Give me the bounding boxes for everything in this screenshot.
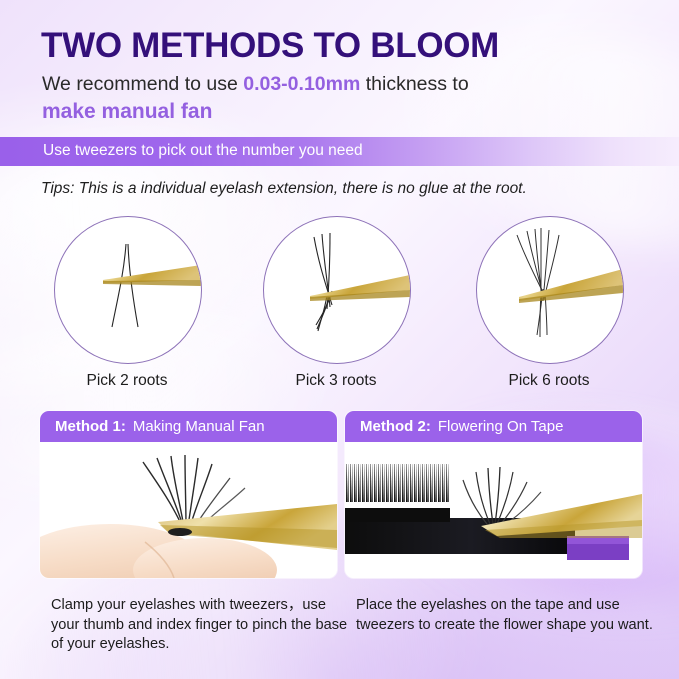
- tweezers-lash-icon: [263, 216, 411, 364]
- method-2-title: Flowering On Tape: [438, 418, 564, 435]
- method-1-label: Method 1:: [55, 418, 126, 435]
- method-1-caption: Clamp your eyelashes with tweezers，use y…: [51, 596, 351, 655]
- method-2-caption: Place the eyelashes on the tape and use …: [356, 596, 656, 635]
- fingers-pinching-lash-fan-photo: [40, 442, 337, 578]
- subtitle-line-2: make manual fan: [42, 100, 212, 124]
- pick-roots-label: Pick 2 roots: [54, 372, 200, 390]
- tweezers-lash-icon: [476, 216, 624, 364]
- instruction-banner-text: Use tweezers to pick out the number you …: [43, 142, 363, 160]
- method-card-2: Method 2: Flowering On Tape: [345, 411, 642, 578]
- subtitle-thickness-value: 0.03-0.10mm: [243, 73, 360, 95]
- method-1-title: Making Manual Fan: [133, 418, 265, 435]
- tips-text: Tips: This is a individual eyelash exten…: [41, 180, 527, 198]
- pick-roots-item-3: Pick 3 roots: [263, 216, 409, 390]
- method-card-2-header: Method 2: Flowering On Tape: [345, 411, 642, 442]
- pick-roots-label: Pick 3 roots: [263, 372, 409, 390]
- pick-roots-label: Pick 6 roots: [476, 372, 622, 390]
- subtitle-line-1: We recommend to use 0.03-0.10mm thicknes…: [42, 71, 642, 97]
- tweezers-lash-icon: [54, 216, 202, 364]
- subtitle-suffix: thickness to: [360, 73, 468, 95]
- pick-roots-item-2: Pick 2 roots: [54, 216, 200, 390]
- infographic-page: TWO METHODS TO BLOOM We recommend to use…: [0, 0, 679, 679]
- subtitle-prefix: We recommend to use: [42, 73, 243, 95]
- method-2-label: Method 2:: [360, 418, 431, 435]
- pick-roots-item-6: Pick 6 roots: [476, 216, 622, 390]
- method-card-1: Method 1: Making Manual Fan: [40, 411, 337, 578]
- lash-strip-on-tape-photo: [345, 442, 642, 578]
- page-title: TWO METHODS TO BLOOM: [41, 26, 499, 66]
- method-card-1-header: Method 1: Making Manual Fan: [40, 411, 337, 442]
- pick-roots-row: Pick 2 roots: [0, 216, 679, 391]
